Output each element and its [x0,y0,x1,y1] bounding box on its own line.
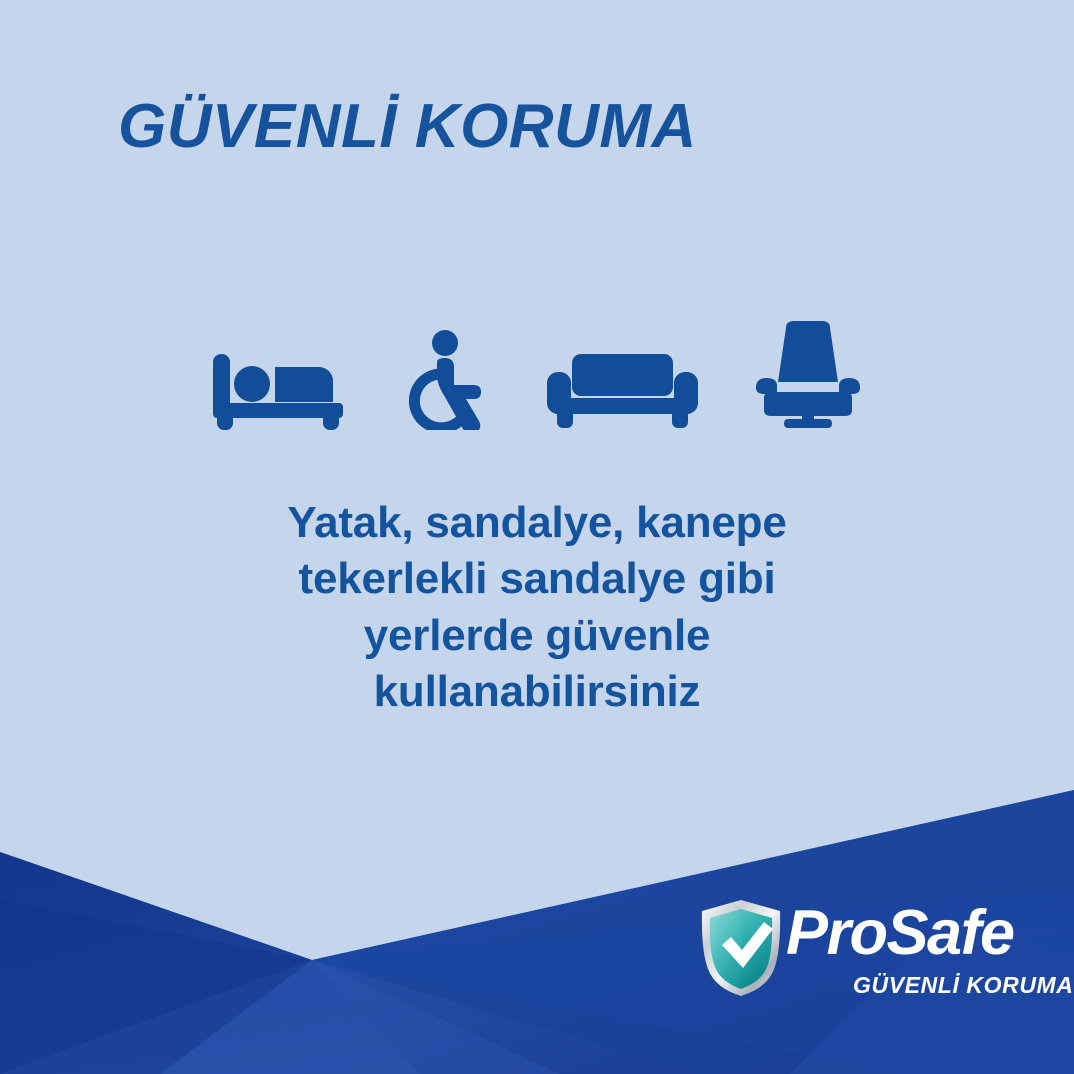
brand-tagline: GÜVENLİ KORUMA [853,974,1074,997]
icon-cell-wheelchair [397,330,491,430]
wheelchair-icon [397,330,491,430]
icon-cell-armchair [754,320,862,430]
bg-facet-left-lower [0,852,312,1074]
body-copy: Yatak, sandalye, kanepe tekerlekli sanda… [0,495,1074,720]
body-line-1: Yatak, sandalye, kanepe [0,495,1074,551]
body-line-3: yerlerde güvenle [0,608,1074,664]
icon-cell-bed [213,354,343,430]
shield-check-icon [698,898,784,1003]
promo-poster: GÜVENLİ KORUMA [0,0,1074,1074]
brand-wordmark: ProSafe [786,902,1014,965]
bed-icon [213,354,343,430]
bg-wedge-left [0,852,312,1074]
page-title: GÜVENLİ KORUMA [118,96,697,158]
body-line-2: tekerlekli sandalye gibi [0,551,1074,607]
bg-facet-left-edge [0,900,312,1074]
icon-row [0,306,1074,430]
bg-facet-center [312,960,700,1074]
armchair-icon [754,320,862,430]
icon-cell-sofa [545,352,700,430]
brand-logo: ProSafe GÜVENLİ KORUMA [698,898,1028,1008]
sofa-icon [545,352,700,430]
body-line-4: kullanabilirsiniz [0,664,1074,720]
